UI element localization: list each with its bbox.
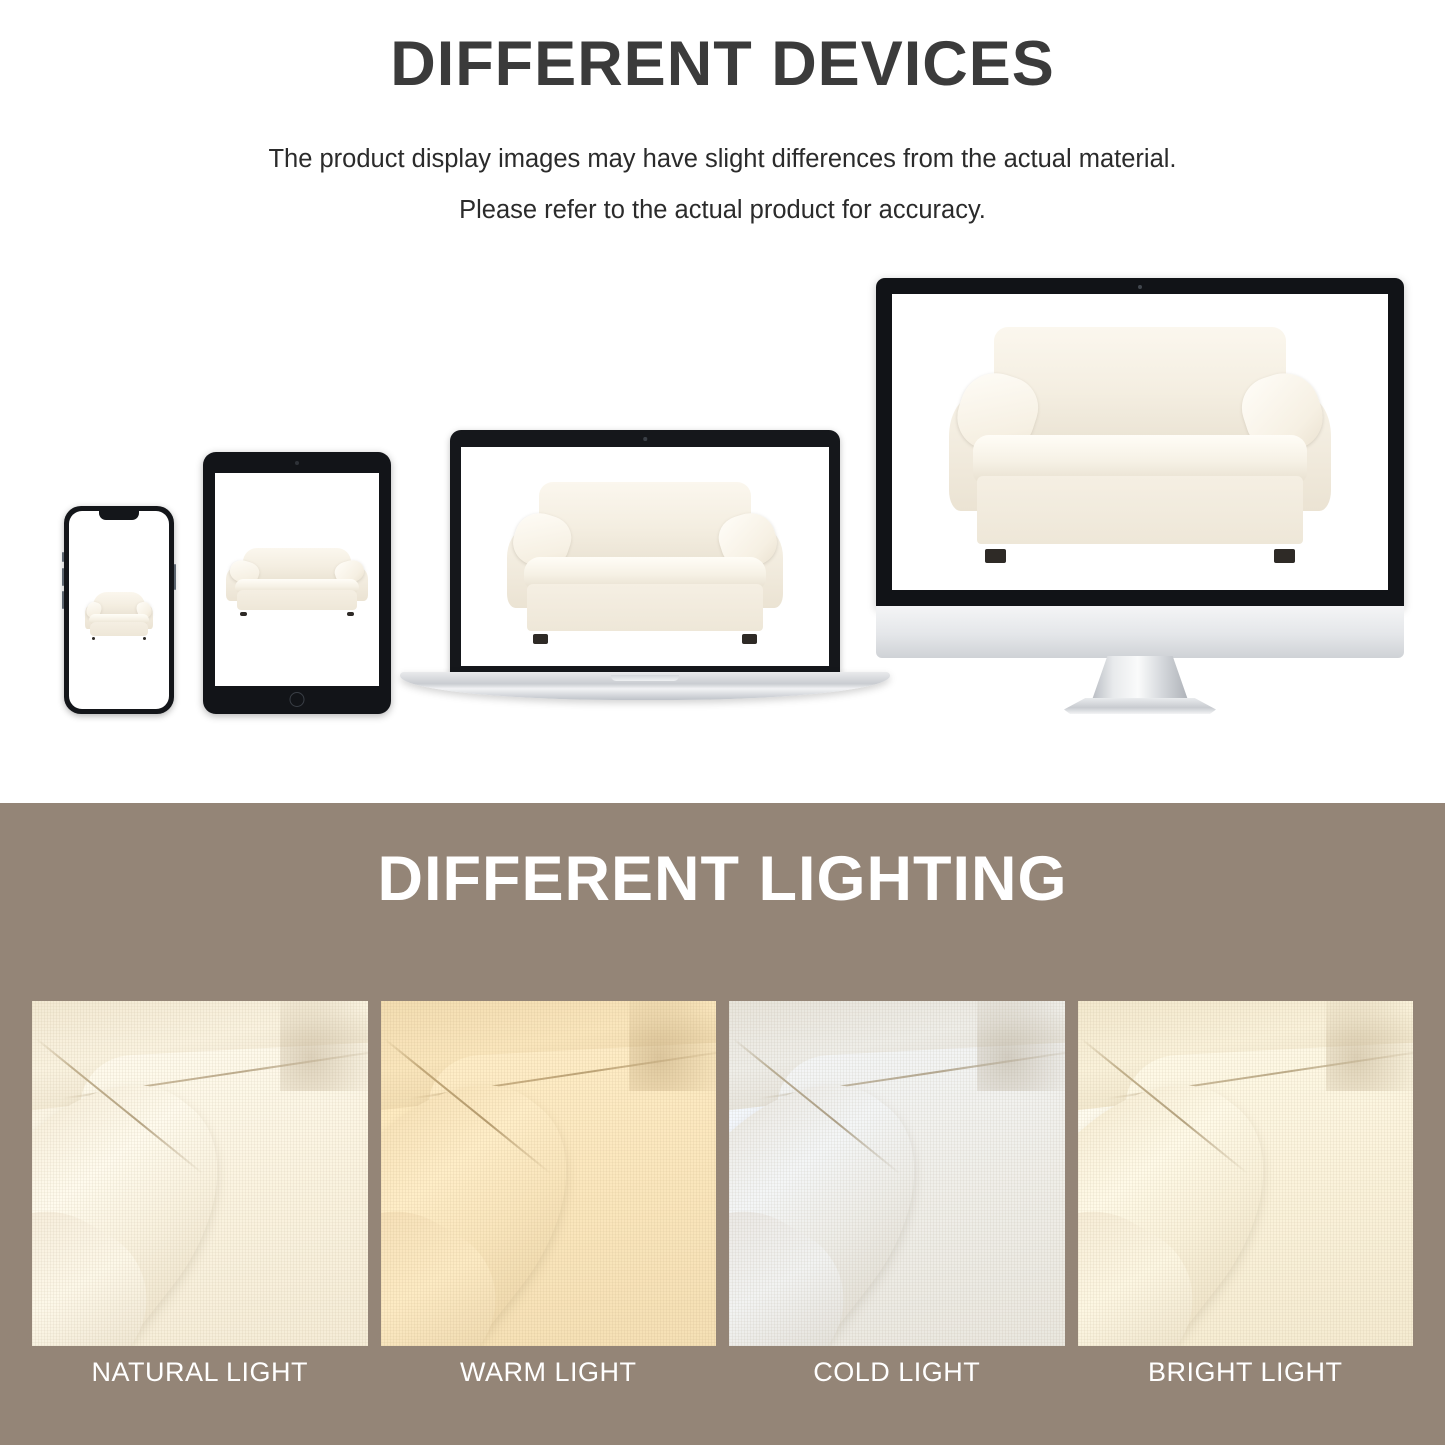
sofa-foot-left bbox=[92, 637, 96, 640]
sofa-backrest bbox=[994, 327, 1287, 436]
laptop-lid bbox=[450, 430, 840, 675]
phone-side-button-volume-down bbox=[62, 591, 64, 609]
phone-body bbox=[64, 506, 174, 714]
lighting-tint-overlay bbox=[729, 1001, 1065, 1346]
sofa-foot-right bbox=[1274, 549, 1294, 563]
sofa-foot-left bbox=[533, 634, 548, 644]
product-image-sofa bbox=[222, 548, 373, 616]
phone-screen bbox=[69, 511, 169, 709]
smartphone-mockup bbox=[64, 506, 174, 714]
monitor-screen bbox=[892, 294, 1388, 590]
phone-side-button-volume-up bbox=[62, 568, 64, 586]
fabric-closeup-image bbox=[1078, 1001, 1414, 1346]
lighting-swatch-row: NATURAL LIGHT WARM LIGHT bbox=[32, 1001, 1413, 1346]
lighting-label: WARM LIGHT bbox=[381, 1357, 717, 1388]
monitor-bezel bbox=[876, 278, 1404, 608]
desktop-monitor-mockup bbox=[870, 278, 1410, 718]
monitor-stand-foot bbox=[1064, 698, 1216, 714]
phone-notch bbox=[99, 511, 139, 520]
lighting-tint-overlay bbox=[1078, 1001, 1414, 1346]
lighting-tint-overlay bbox=[32, 1001, 368, 1346]
tablet-mockup bbox=[203, 452, 391, 714]
phone-side-button-mute bbox=[62, 552, 64, 562]
lighting-tint-overlay bbox=[381, 1001, 717, 1346]
product-image-sofa bbox=[498, 482, 792, 644]
lighting-label: BRIGHT LIGHT bbox=[1078, 1357, 1414, 1388]
product-image-sofa bbox=[83, 592, 155, 640]
monitor-stand-neck bbox=[1092, 656, 1188, 700]
laptop-webcam-icon bbox=[643, 437, 647, 441]
tablet-home-button[interactable] bbox=[290, 692, 305, 707]
subtitle-line-2: Please refer to the actual product for a… bbox=[0, 196, 1445, 225]
sofa-foot-left bbox=[985, 549, 1005, 563]
laptop-screen bbox=[461, 447, 829, 666]
monitor-webcam-icon bbox=[1138, 285, 1142, 289]
sofa-base bbox=[527, 584, 763, 631]
lighting-label: COLD LIGHT bbox=[729, 1357, 1065, 1388]
monitor-chin bbox=[876, 606, 1404, 658]
lighting-swatch-natural: NATURAL LIGHT bbox=[32, 1001, 368, 1346]
lighting-label: NATURAL LIGHT bbox=[32, 1357, 368, 1388]
product-image-sofa bbox=[937, 327, 1344, 564]
sofa-base bbox=[90, 622, 148, 636]
fabric-closeup-image bbox=[381, 1001, 717, 1346]
phone-side-button-power bbox=[174, 564, 176, 590]
laptop-mockup bbox=[400, 430, 890, 715]
subtitle-line-1: The product display images may have slig… bbox=[0, 145, 1445, 174]
sofa-base bbox=[977, 476, 1302, 545]
tablet-body bbox=[203, 452, 391, 714]
sofa-foot-right bbox=[347, 612, 355, 616]
lighting-swatch-bright: BRIGHT LIGHT bbox=[1078, 1001, 1414, 1346]
laptop-trackpad-notch bbox=[611, 675, 679, 681]
sofa-foot-left bbox=[240, 612, 248, 616]
page-title: DIFFERENT DEVICES bbox=[0, 28, 1445, 100]
lighting-title: DIFFERENT LIGHTING bbox=[0, 843, 1445, 915]
lighting-swatch-warm: WARM LIGHT bbox=[381, 1001, 717, 1346]
fabric-closeup-image bbox=[729, 1001, 1065, 1346]
different-devices-section: DIFFERENT DEVICES The product display im… bbox=[0, 0, 1445, 803]
tablet-screen bbox=[215, 473, 379, 686]
sofa-foot-right bbox=[742, 634, 757, 644]
sofa-base bbox=[237, 590, 358, 610]
lighting-swatch-cold: COLD LIGHT bbox=[729, 1001, 1065, 1346]
fabric-closeup-image bbox=[32, 1001, 368, 1346]
tablet-front-camera-icon bbox=[295, 461, 299, 465]
sofa-foot-right bbox=[143, 637, 147, 640]
different-lighting-section: DIFFERENT LIGHTING NATURAL LIGHT bbox=[0, 803, 1445, 1445]
